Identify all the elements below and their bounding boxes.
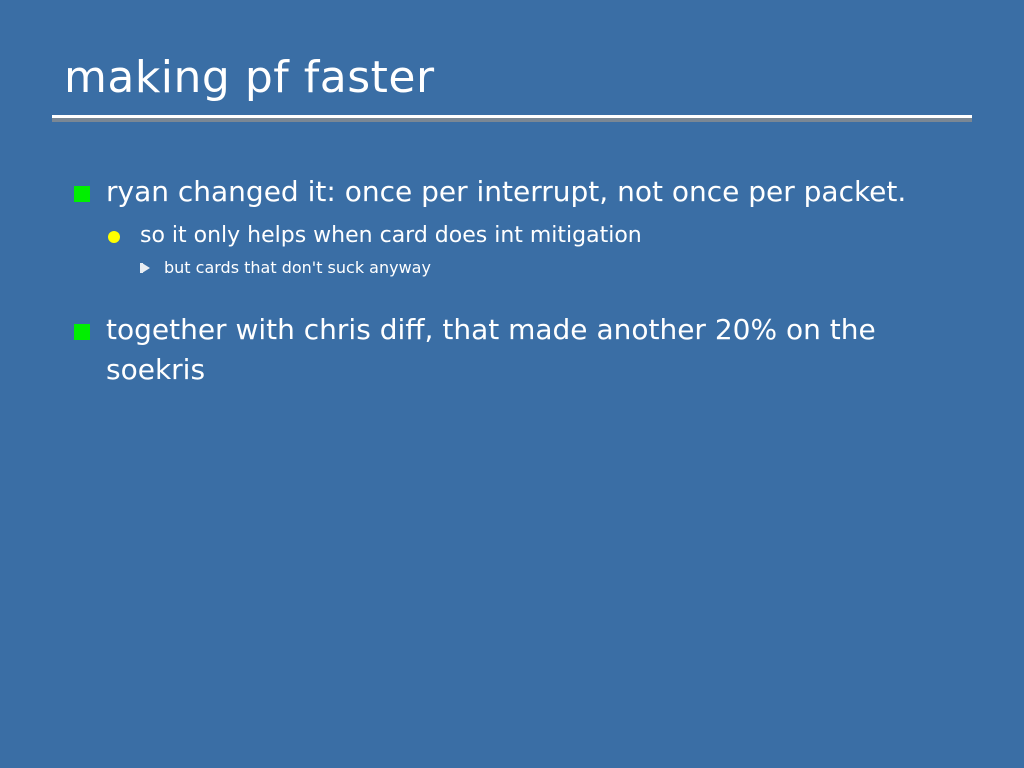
yellow-dot-marker (108, 231, 120, 243)
bullet-text: but cards that don't suck anyway (164, 258, 431, 277)
list-item: together with chris diff, that made anot… (72, 310, 962, 390)
title-divider-shadow (52, 118, 972, 122)
list-item: so it only helps when card does int miti… (72, 220, 962, 252)
bullet-group-spacer (72, 280, 962, 310)
bullet-text: so it only helps when card does int miti… (140, 223, 642, 248)
slide-title-block: making pf faster (52, 52, 972, 104)
white-triangle-marker (142, 263, 150, 273)
list-item: ryan changed it: once per interrupt, not… (72, 172, 962, 212)
bullet-text: together with chris diff, that made anot… (106, 313, 876, 386)
slide-body: ryan changed it: once per interrupt, not… (72, 172, 962, 394)
bullet-text: ryan changed it: once per interrupt, not… (106, 175, 906, 208)
green-square-marker (74, 186, 90, 202)
list-item: but cards that don't suck anyway (72, 256, 962, 280)
presentation-slide: making pf faster ryan changed it: once p… (0, 0, 1024, 768)
page-title: making pf faster (52, 52, 972, 104)
green-square-marker (74, 324, 90, 340)
